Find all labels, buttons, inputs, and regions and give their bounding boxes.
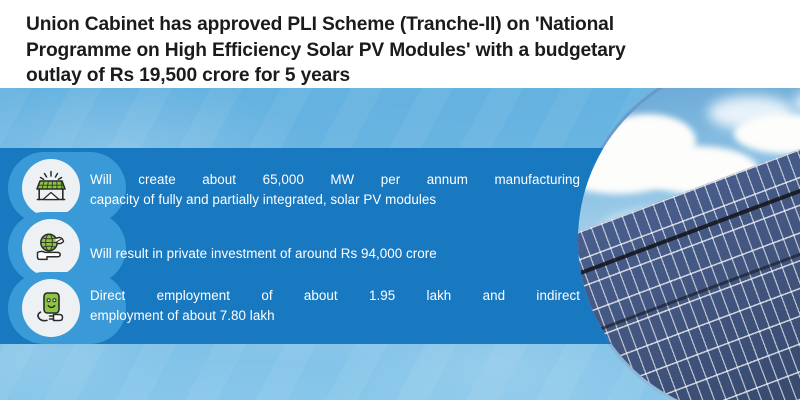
bullet-text-2: Will result in private investment of aro… [90, 244, 580, 264]
page-title: Union Cabinet has approved PLI Scheme (T… [26, 12, 770, 89]
bullet-line: Will result in private investment of aro… [90, 244, 580, 264]
bullet-line: Direct employment of about 1.95 lakh and… [90, 286, 580, 306]
bullet-text-1: Will create about 65,000 MW per annum ma… [90, 170, 580, 210]
bullet-line: employment of about 7.80 lakh [90, 306, 580, 326]
bullet-line: capacity of fully and partially integrat… [90, 190, 580, 210]
infographic-root: Will create about 65,000 MW per annum ma… [0, 0, 800, 400]
header: Union Cabinet has approved PLI Scheme (T… [0, 0, 800, 88]
bullet-text-3: Direct employment of about 1.95 lakh and… [90, 286, 580, 326]
bullet-line: Will create about 65,000 MW per annum ma… [90, 170, 580, 190]
